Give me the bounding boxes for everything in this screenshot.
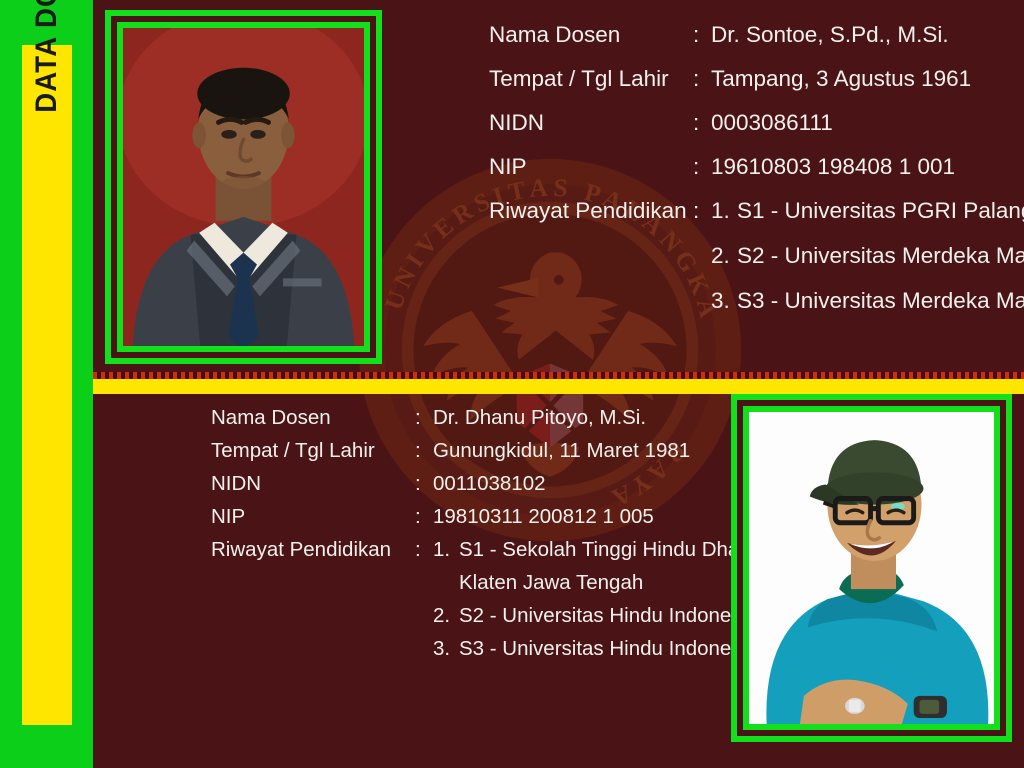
sidebar-vertical-title: DATA DOSEN JURUSAN SOSIOLOGI FISIP UPR xyxy=(22,0,72,93)
dosen-record-1: Nama Dosen : Dr. Sontoe, S.Pd., M.Si. Te… xyxy=(489,22,1024,332)
education-text: S2 - Universitas Merdeka Malang xyxy=(737,243,1024,269)
field-colon: : xyxy=(693,110,711,136)
field-nama-dosen: Nama Dosen : Dr. Sontoe, S.Pd., M.Si. xyxy=(489,22,1024,48)
field-nama-dosen: Nama Dosen : Dr. Dhanu Pitoyo, M.Si. xyxy=(211,406,821,430)
dosen-photo-2-frame xyxy=(731,394,1012,742)
education-index: 1. xyxy=(433,538,459,562)
dosen-photo-1-frame xyxy=(105,10,382,364)
divider-yellow-band xyxy=(93,379,1024,394)
field-colon: : xyxy=(693,66,711,92)
field-riwayat-pendidikan: Riwayat Pendidikan : 1. S1 - Sekolah Tin… xyxy=(211,538,821,661)
list-item: 3. S3 - Universitas Merdeka Malang xyxy=(711,288,1024,314)
field-colon: : xyxy=(693,198,711,224)
field-colon: : xyxy=(415,505,433,529)
field-label: Nama Dosen xyxy=(489,22,693,48)
education-text: S3 - Universitas Merdeka Malang xyxy=(737,288,1024,314)
field-label: NIP xyxy=(489,154,693,180)
list-item: 2. S2 - Universitas Merdeka Malang xyxy=(711,243,1024,269)
field-label: NIDN xyxy=(211,472,415,496)
field-label: NIDN xyxy=(489,110,693,136)
field-tempat-tgl-lahir: Tempat / Tgl Lahir : Gunungkidul, 11 Mar… xyxy=(211,439,821,463)
divider-dot-row xyxy=(93,372,1024,379)
field-nidn: NIDN : 0011038102 xyxy=(211,472,821,496)
education-index: 3. xyxy=(711,288,737,314)
field-colon: : xyxy=(415,406,433,430)
education-list: 1. S1 - Universitas PGRI Palangka Raya 2… xyxy=(711,198,1024,314)
dosen-photo-1 xyxy=(123,28,364,346)
field-colon: : xyxy=(415,439,433,463)
field-value: Dr. Sontoe, S.Pd., M.Si. xyxy=(711,22,1024,48)
education-index: 3. xyxy=(433,637,459,661)
dosen-photo-1-inner-frame xyxy=(117,22,370,352)
field-colon: : xyxy=(693,154,711,180)
field-tempat-tgl-lahir: Tempat / Tgl Lahir : Tampang, 3 Agustus … xyxy=(489,66,1024,92)
field-label: Riwayat Pendidikan xyxy=(211,538,415,562)
education-index: 1. xyxy=(711,198,737,224)
education-index: 2. xyxy=(433,604,459,628)
field-riwayat-pendidikan: Riwayat Pendidikan : 1. S1 - Universitas… xyxy=(489,198,1024,314)
field-nip: NIP : 19810311 200812 1 005 xyxy=(211,505,821,529)
sidebar-yellow-strip xyxy=(22,45,72,725)
field-label: Tempat / Tgl Lahir xyxy=(211,439,415,463)
sidebar: DATA DOSEN JURUSAN SOSIOLOGI FISIP UPR xyxy=(0,0,93,768)
field-value: 0003086111 xyxy=(711,110,1024,136)
section-divider xyxy=(93,372,1024,394)
field-colon: : xyxy=(415,472,433,496)
dosen-photo-2-inner-frame xyxy=(743,406,1000,730)
list-item: 1. S1 - Universitas PGRI Palangka Raya xyxy=(711,198,1024,224)
poster-canvas: DATA DOSEN JURUSAN SOSIOLOGI FISIP UPR U… xyxy=(0,0,1024,768)
field-value: Tampang, 3 Agustus 1961 xyxy=(711,66,1024,92)
field-nip: NIP : 19610803 198408 1 001 xyxy=(489,154,1024,180)
field-colon: : xyxy=(415,538,433,562)
field-nidn: NIDN : 0003086111 xyxy=(489,110,1024,136)
field-label: Tempat / Tgl Lahir xyxy=(489,66,693,92)
dosen-photo-2 xyxy=(749,412,994,724)
field-label: NIP xyxy=(211,505,415,529)
education-text: S1 - Universitas PGRI Palangka Raya xyxy=(737,198,1024,224)
field-label: Nama Dosen xyxy=(211,406,415,430)
field-value: 19610803 198408 1 001 xyxy=(711,154,1024,180)
field-label: Riwayat Pendidikan xyxy=(489,198,693,224)
education-index: 2. xyxy=(711,243,737,269)
field-colon: : xyxy=(693,22,711,48)
dosen-record-2: Nama Dosen : Dr. Dhanu Pitoyo, M.Si. Tem… xyxy=(211,406,821,670)
